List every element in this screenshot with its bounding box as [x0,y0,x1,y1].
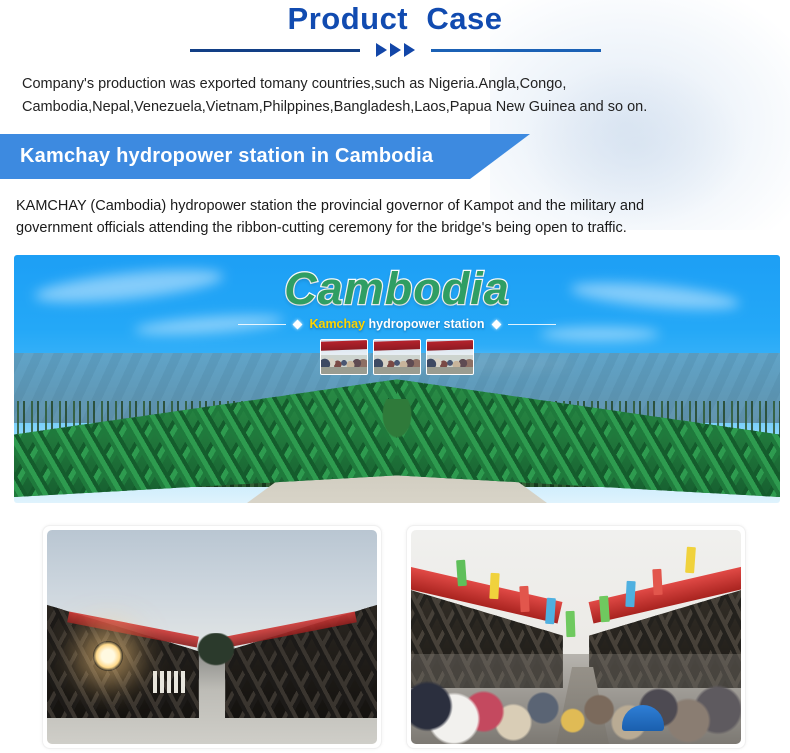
hero-subtitle-highlight: Kamchay [309,317,365,331]
diamond-icon [293,319,303,329]
decorative-flag [652,568,662,594]
section-banner-label: Kamchay hydropower station in Cambodia [20,134,433,179]
hero-thumbnail-strip [14,339,780,375]
hero-thumbnail[interactable] [373,339,421,375]
page-header: Product Case [0,0,790,57]
intro-paragraph: Company's production was exported tomany… [22,73,722,119]
decorative-flag [566,611,576,637]
photo-ceremony-crowd-content [411,530,741,744]
description-line-1: KAMCHAY (Cambodia) hydropower station th… [16,195,774,217]
hero-thumbnail[interactable] [320,339,368,375]
decorative-flag [599,596,610,623]
photo-ceremony-crowd[interactable] [406,525,746,749]
photo-sunset-bridge-content [47,530,377,744]
right-arrow-icon [390,43,401,57]
hero-bridge-scene [14,353,780,503]
triple-right-arrow-icon [376,43,415,57]
diamond-icon [491,319,501,329]
crowd-of-people [411,654,741,744]
hero-caption-title: Cambodia [14,263,780,315]
right-arrow-icon [404,43,415,57]
decorative-flag [685,547,696,574]
divider-line-left [190,49,360,52]
hero-caption-subtitle: Kamchay hydropower station [309,317,484,331]
intro-line-1: Company's production was exported tomany… [22,76,566,92]
description-line-2: government officials attending the ribbo… [16,217,774,239]
hero-thumbnail[interactable] [426,339,474,375]
section-banner: Kamchay hydropower station in Cambodia [0,134,790,179]
product-case-page: Product Case Company's production was ex… [0,0,790,749]
subtitle-rule-right [508,324,556,325]
thumb-ground [427,367,473,374]
photo-sunset-bridge[interactable] [42,525,382,749]
photo-gallery [42,525,790,749]
subtitle-rule-left [238,324,286,325]
hero-subtitle-rest: hydropower station [365,317,484,331]
right-arrow-icon [376,43,387,57]
people-group [153,671,187,693]
palm-tree [189,633,243,673]
description-paragraph: KAMCHAY (Cambodia) hydropower station th… [16,195,774,239]
decorative-flag [490,573,500,599]
divider-line-right [431,49,601,52]
page-title: Product Case [0,1,790,37]
title-divider [0,43,790,57]
thumb-ground [374,367,420,374]
hero-banner-image: Cambodia Kamchay hydropower station [14,255,780,503]
intro-line-2: Cambodia,Nepal,Venezuela,Vietnam,Philppi… [22,99,647,115]
hero-caption-subtitle-row: Kamchay hydropower station [14,317,780,331]
decorative-flag [519,585,529,611]
thumb-ground [321,367,367,374]
palm-tree [374,399,420,451]
